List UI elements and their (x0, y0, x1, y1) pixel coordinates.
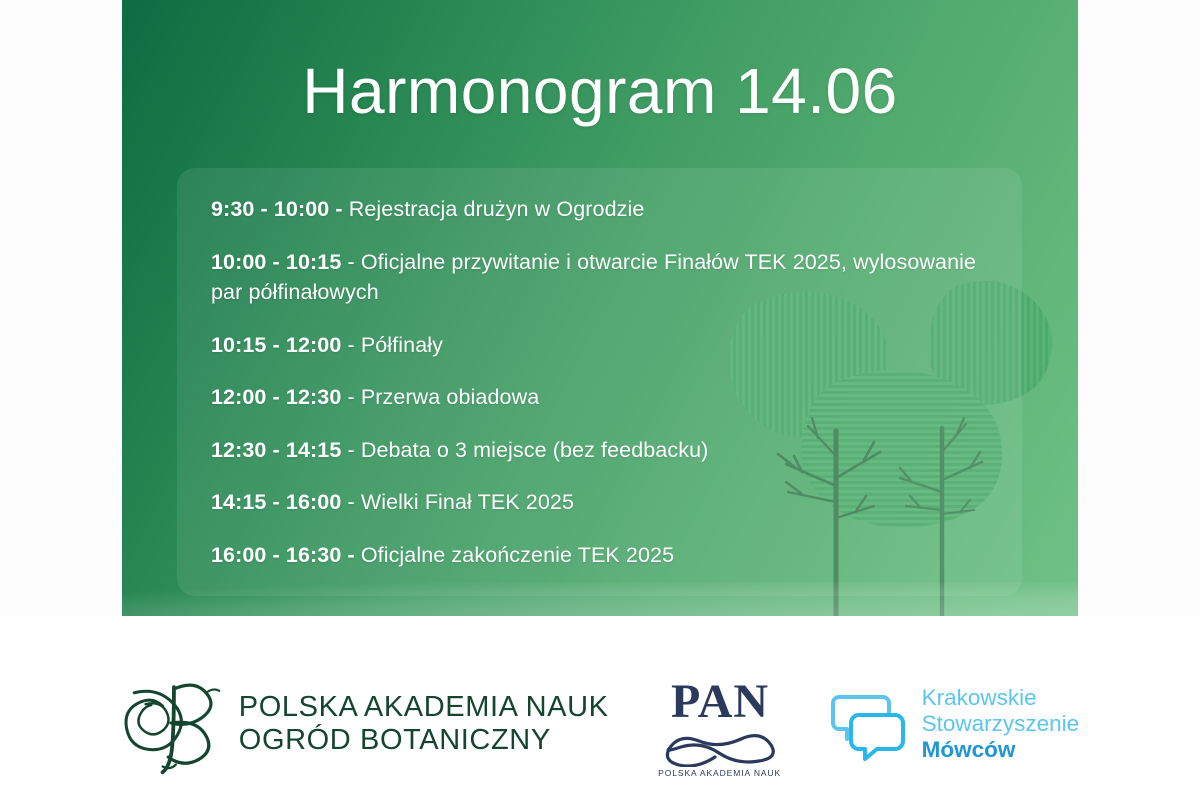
schedule-item-time: 9:30 - 10:00 (211, 197, 329, 221)
pan-wordmark-icon: PAN (655, 671, 785, 767)
logo-botanic-line1: POLSKA AKADEMIA NAUK (239, 691, 609, 724)
logo-ksm-text: Krakowskie Stowarzyszenie Mówców (922, 685, 1080, 763)
schedule-item-time: 14:15 - 16:00 (211, 490, 341, 514)
schedule-item-separator: - (341, 490, 360, 514)
logo-ksm-line2: Stowarzyszenie (922, 711, 1080, 737)
schedule-item-separator: - (341, 250, 360, 274)
schedule-item: 10:00 - 10:15 - Oficjalne przywitanie i … (211, 247, 988, 308)
schedule-item: 12:30 - 14:15 - Debata o 3 miejsce (bez … (211, 435, 988, 466)
schedule-item-time: 12:30 - 14:15 (211, 438, 341, 462)
schedule-item-description: Debata o 3 miejsce (bez feedbacku) (361, 438, 709, 462)
schedule-item-description: Przerwa obiadowa (361, 385, 539, 409)
schedule-item-separator: - (341, 543, 360, 567)
logo-botanic-text: POLSKA AKADEMIA NAUK OGRÓD BOTANICZNY (239, 691, 609, 757)
schedule-item-separator: - (341, 438, 360, 462)
page-title: Harmonogram 14.06 (122, 58, 1078, 125)
logo-pan-caption: POLSKA AKADEMIA NAUK (658, 768, 781, 778)
schedule-card: 9:30 - 10:00 - Rejestracja drużyn w Ogro… (177, 168, 1022, 596)
green-panel: Harmonogram 14.06 9:30 - 10:00 - Rejestr… (122, 0, 1078, 616)
schedule-item: 12:00 - 12:30 - Przerwa obiadowa (211, 382, 988, 413)
schedule-item: 16:00 - 16:30 - Oficjalne zakończenie TE… (211, 540, 988, 571)
schedule-item: 14:15 - 16:00 - Wielki Finał TEK 2025 (211, 487, 988, 518)
logo-polska-akademia-nauk-ogrod-botaniczny: POLSKA AKADEMIA NAUK OGRÓD BOTANICZNY (121, 672, 609, 776)
logo-krakowskie-stowarzyszenie-mowcow: Krakowskie Stowarzyszenie Mówców (831, 685, 1080, 763)
schedule-item: 9:30 - 10:00 - Rejestracja drużyn w Ogro… (211, 194, 988, 225)
schedule-item-time: 10:15 - 12:00 (211, 333, 341, 357)
svg-text:PAN: PAN (671, 675, 769, 728)
logo-pan: PAN POLSKA AKADEMIA NAUK (655, 671, 785, 778)
schedule-item-time: 12:00 - 12:30 (211, 385, 341, 409)
logo-ksm-line3: Mówców (922, 737, 1080, 763)
schedule-item-separator: - (341, 385, 360, 409)
schedule-item-description: Rejestracja drużyn w Ogrodzie (349, 197, 645, 221)
logo-botanic-line2: OGRÓD BOTANICZNY (239, 724, 609, 757)
ob-monogram-icon (121, 672, 225, 776)
schedule-item-separator: - (341, 333, 360, 357)
speech-bubbles-icon (831, 687, 909, 761)
schedule-item-description: Wielki Finał TEK 2025 (361, 490, 574, 514)
schedule-item-description: Oficjalne zakończenie TEK 2025 (361, 543, 674, 567)
logo-ksm-line1: Krakowskie (922, 685, 1080, 711)
schedule-item-time: 16:00 - 16:30 (211, 543, 341, 567)
schedule-item-time: 10:00 - 10:15 (211, 250, 341, 274)
poster-root: Harmonogram 14.06 9:30 - 10:00 - Rejestr… (0, 0, 1200, 800)
schedule-item-separator: - (329, 197, 348, 221)
schedule-item: 10:15 - 12:00 - Półfinały (211, 330, 988, 361)
schedule-item-description: Półfinały (361, 333, 443, 357)
footer-logo-bar: POLSKA AKADEMIA NAUK OGRÓD BOTANICZNY PA… (0, 616, 1200, 800)
